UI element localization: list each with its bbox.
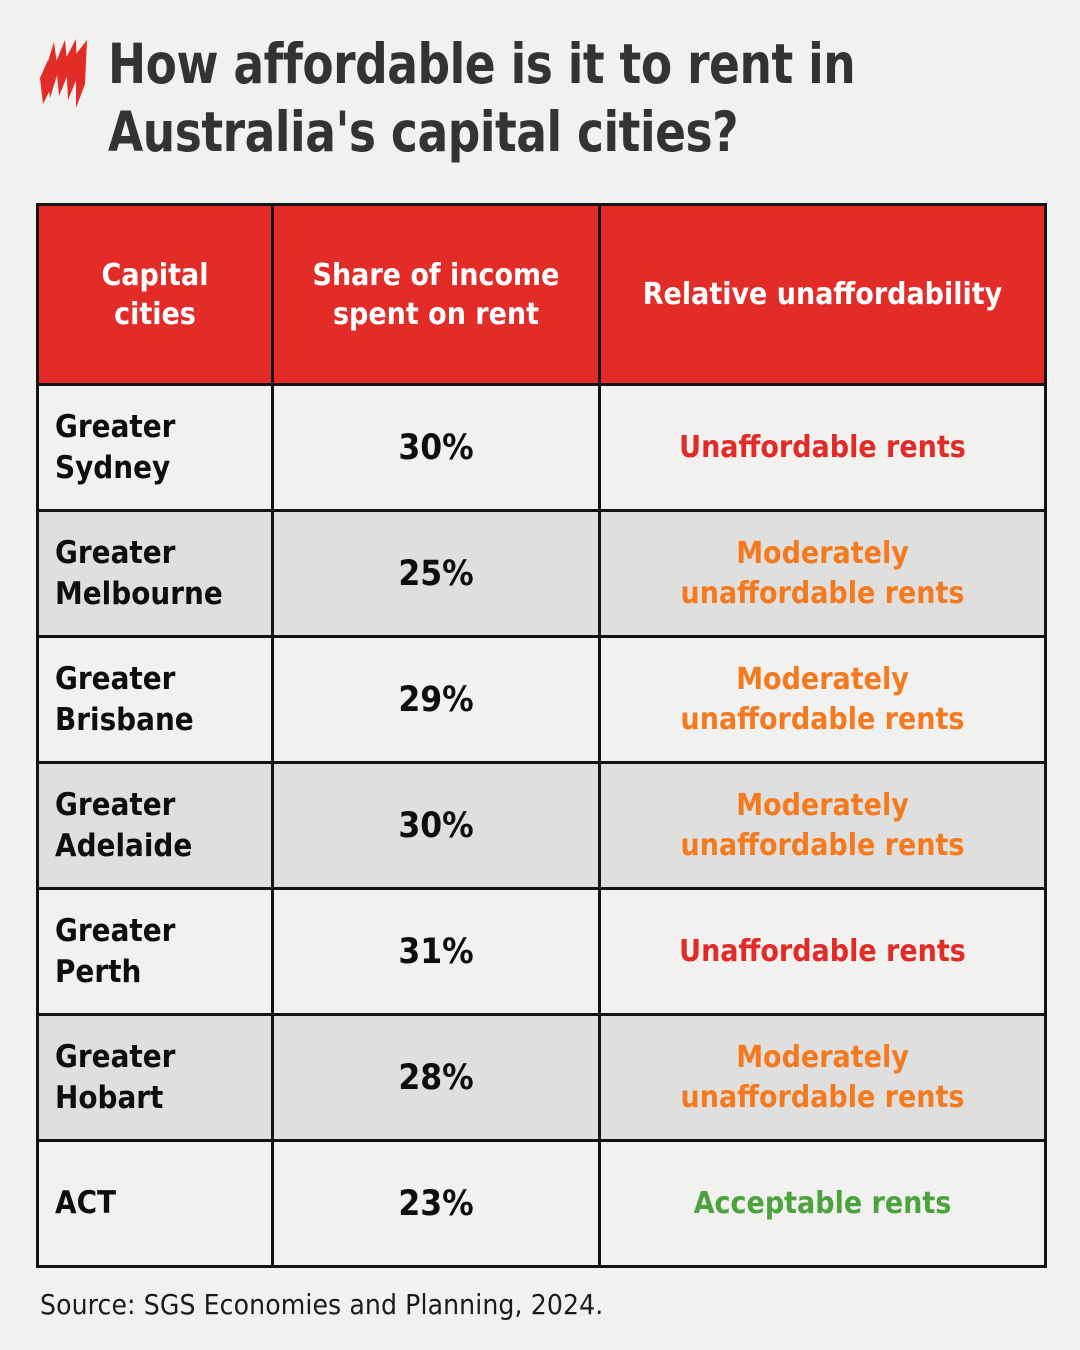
cell-relative-unaffordability: Moderately unaffordable rents <box>600 511 1046 637</box>
cell-share-of-income: 23% <box>273 1141 600 1267</box>
table-header: Capital cities Share of income spent on … <box>38 205 1046 385</box>
table-body: Greater Sydney 30% Unaffordable rents Gr… <box>38 385 1046 1267</box>
city-name-line2: Brisbane <box>55 702 194 738</box>
sbs-flame-logo-icon <box>36 38 94 116</box>
column-header-capital-cities: Capital cities <box>38 205 273 385</box>
city-name-line2: Perth <box>55 954 141 990</box>
rating-label-line1: Moderately <box>736 788 909 823</box>
table-header-row: Capital cities Share of income spent on … <box>38 205 1046 385</box>
cell-city: ACT <box>38 1141 273 1267</box>
cell-city: Greater Hobart <box>38 1015 273 1141</box>
city-name-line1: ACT <box>55 1185 116 1221</box>
infographic-page: How affordable is it to rent in Australi… <box>0 0 1080 1350</box>
cell-city: Greater Adelaide <box>38 763 273 889</box>
city-name-line2: Melbourne <box>55 576 223 612</box>
city-name-line1: Greater <box>55 661 175 697</box>
cell-relative-unaffordability: Unaffordable rents <box>600 889 1046 1015</box>
cell-share-of-income: 28% <box>273 1015 600 1141</box>
affordability-table-wrapper: Capital cities Share of income spent on … <box>36 203 1044 1268</box>
table-row: Greater Melbourne 25% Moderately unaffor… <box>38 511 1046 637</box>
city-name-line2: Adelaide <box>55 828 192 864</box>
city-name-line2: Sydney <box>55 450 170 486</box>
city-name-line2: Hobart <box>55 1080 163 1116</box>
rating-label-line1: Moderately <box>736 1040 909 1075</box>
cell-relative-unaffordability: Acceptable rents <box>600 1141 1046 1267</box>
table-row: Greater Perth 31% Unaffordable rents <box>38 889 1046 1015</box>
header: How affordable is it to rent in Australi… <box>0 0 1080 166</box>
affordability-table: Capital cities Share of income spent on … <box>36 203 1047 1268</box>
table-row: Greater Brisbane 29% Moderately unafford… <box>38 637 1046 763</box>
column-header-capital-cities-line1: Capital <box>102 258 209 293</box>
cell-relative-unaffordability: Moderately unaffordable rents <box>600 763 1046 889</box>
city-name-line1: Greater <box>55 913 175 949</box>
cell-city: Greater Melbourne <box>38 511 273 637</box>
rating-label-line1: Unaffordable rents <box>679 430 966 465</box>
city-name-line1: Greater <box>55 535 175 571</box>
source-note: Source: SGS Economies and Planning, 2024… <box>40 1288 603 1321</box>
city-name-line1: Greater <box>55 1039 175 1075</box>
rating-label-line2: unaffordable rents <box>681 576 965 611</box>
rating-label-line2: unaffordable rents <box>681 828 965 863</box>
table-row: ACT 23% Acceptable rents <box>38 1141 1046 1267</box>
city-name-line1: Greater <box>55 787 175 823</box>
table-row: Greater Sydney 30% Unaffordable rents <box>38 385 1046 511</box>
cell-city: Greater Brisbane <box>38 637 273 763</box>
cell-share-of-income: 25% <box>273 511 600 637</box>
rating-label-line2: unaffordable rents <box>681 702 965 737</box>
cell-city: Greater Perth <box>38 889 273 1015</box>
table-row: Greater Hobart 28% Moderately unaffordab… <box>38 1015 1046 1141</box>
cell-city: Greater Sydney <box>38 385 273 511</box>
column-header-share-line1: Share of income <box>313 258 560 293</box>
cell-relative-unaffordability: Unaffordable rents <box>600 385 1046 511</box>
rating-label-line1: Moderately <box>736 662 909 697</box>
column-header-relative-unaffordability: Relative unaffordability <box>600 205 1046 385</box>
rating-label-line2: unaffordable rents <box>681 1080 965 1115</box>
column-header-share-line2: spent on rent <box>333 297 539 332</box>
column-header-capital-cities-line2: cities <box>114 297 196 332</box>
cell-share-of-income: 31% <box>273 889 600 1015</box>
column-header-share-of-income: Share of income spent on rent <box>273 205 600 385</box>
cell-share-of-income: 30% <box>273 763 600 889</box>
cell-share-of-income: 30% <box>273 385 600 511</box>
cell-relative-unaffordability: Moderately unaffordable rents <box>600 1015 1046 1141</box>
cell-relative-unaffordability: Moderately unaffordable rents <box>600 637 1046 763</box>
table-row: Greater Adelaide 30% Moderately unafford… <box>38 763 1046 889</box>
cell-share-of-income: 29% <box>273 637 600 763</box>
rating-label-line1: Moderately <box>736 536 909 571</box>
rating-label-line1: Acceptable rents <box>694 1186 952 1221</box>
city-name-line1: Greater <box>55 409 175 445</box>
rating-label-line1: Unaffordable rents <box>679 934 966 969</box>
page-title: How affordable is it to rent in Australi… <box>108 30 936 166</box>
